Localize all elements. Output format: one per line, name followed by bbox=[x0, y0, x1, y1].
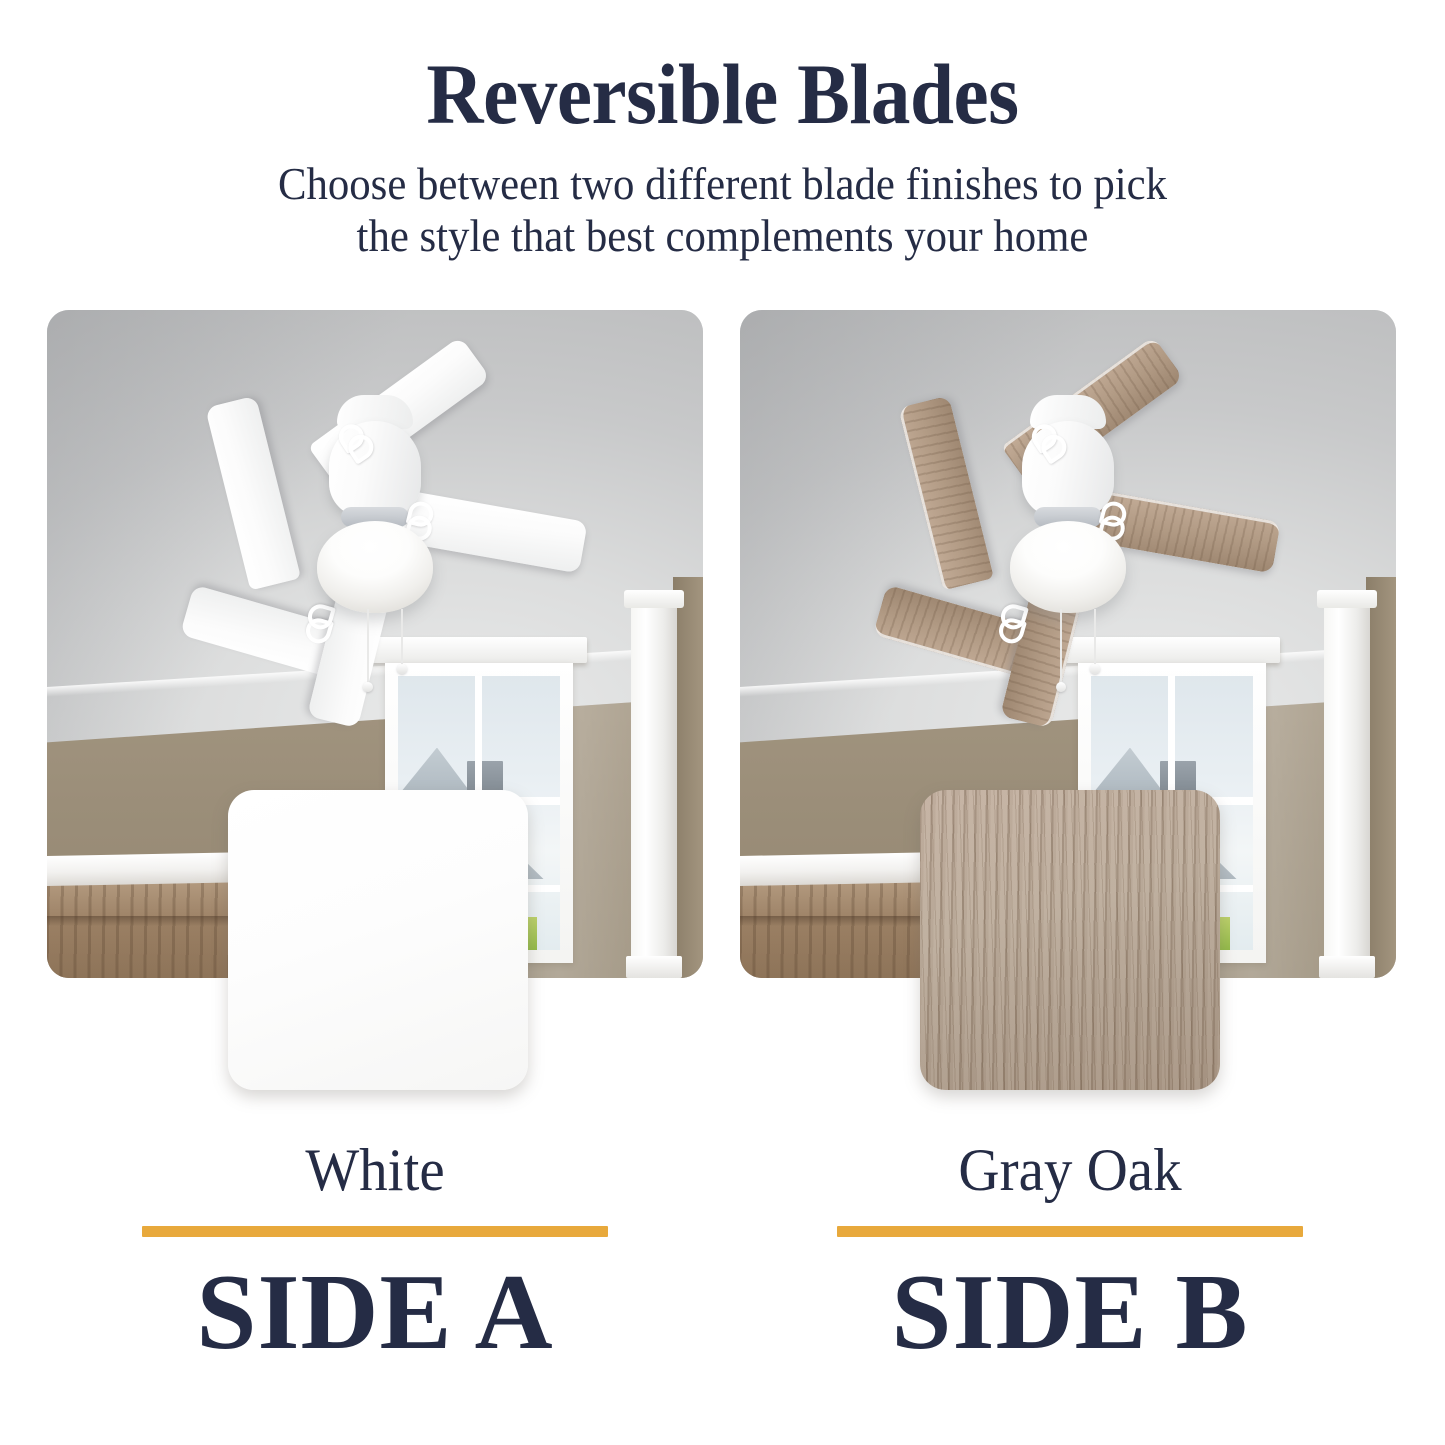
corner-wall bbox=[673, 577, 703, 978]
window-header-trim bbox=[371, 637, 587, 663]
gold-divider-side-b bbox=[837, 1226, 1303, 1237]
finish-name-side-a: White bbox=[62, 1140, 689, 1200]
corner-wall bbox=[1366, 577, 1396, 978]
caption-side-b: Gray Oak SIDE B bbox=[740, 1140, 1400, 1367]
caption-row: White SIDE A Gray Oak SIDE B bbox=[0, 1140, 1445, 1440]
header: Reversible Blades Choose between two dif… bbox=[0, 0, 1445, 262]
side-label-side-a: SIDE A bbox=[45, 1259, 705, 1367]
page-subtitle: Choose between two different blade finis… bbox=[51, 158, 1395, 262]
fan-light-kit bbox=[1010, 521, 1126, 613]
wall-column bbox=[1324, 604, 1370, 978]
fan-pull-chain bbox=[401, 609, 403, 665]
fan-light-kit bbox=[317, 521, 433, 613]
window-header-trim bbox=[1064, 637, 1280, 663]
gold-divider-side-a bbox=[142, 1226, 608, 1237]
subtitle-line-1: Choose between two different blade finis… bbox=[51, 158, 1395, 210]
finish-swatch-gray-oak[interactable] bbox=[920, 790, 1220, 1090]
fan-pull-chain bbox=[1094, 609, 1096, 665]
comparison-panels bbox=[0, 310, 1445, 980]
finish-swatch-white[interactable] bbox=[228, 790, 528, 1090]
fan-pull-chain bbox=[1060, 609, 1062, 683]
fan-pull-chain bbox=[367, 609, 369, 683]
page-title: Reversible Blades bbox=[58, 52, 1387, 136]
side-label-side-b: SIDE B bbox=[740, 1259, 1400, 1367]
caption-side-a: White SIDE A bbox=[45, 1140, 705, 1367]
wall-column bbox=[631, 604, 677, 978]
finish-name-side-b: Gray Oak bbox=[757, 1140, 1384, 1200]
subtitle-line-2: the style that best complements your hom… bbox=[51, 210, 1395, 262]
